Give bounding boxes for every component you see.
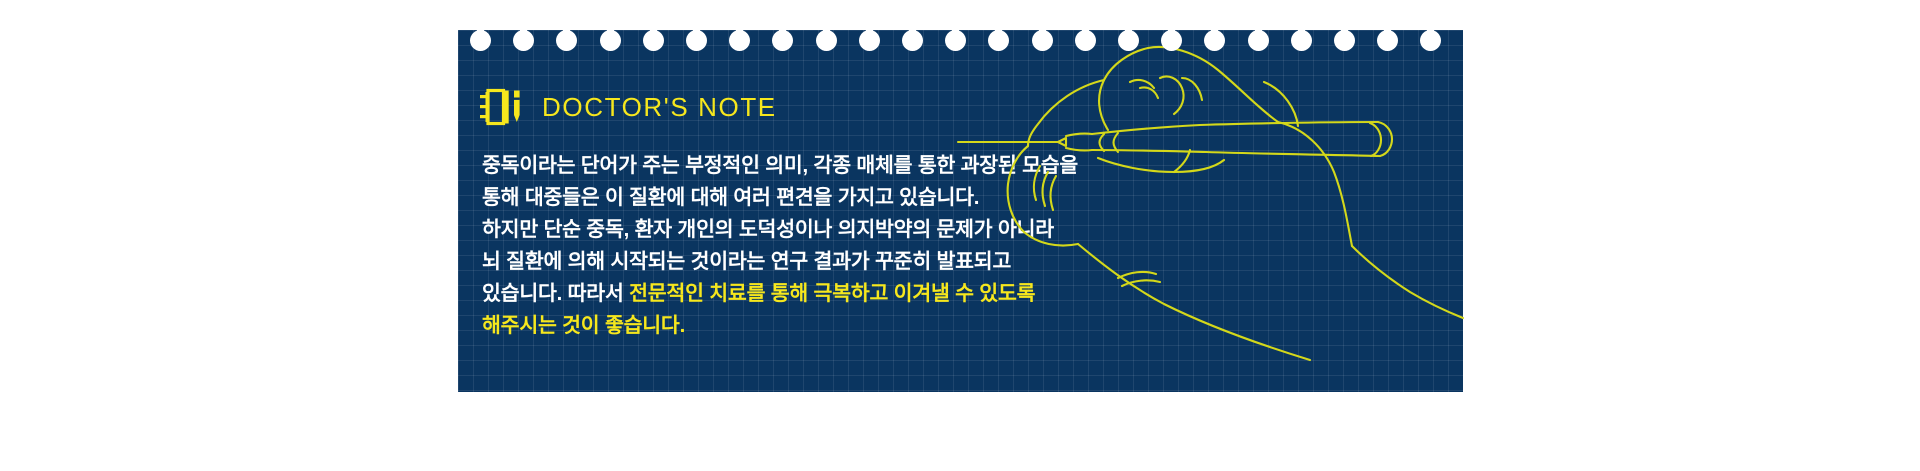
body-line-1: 중독이라는 단어가 주는 부정적인 의미, 각종 매체를 통한 과장된 모습을 bbox=[482, 150, 1242, 182]
doctors-note-panel: DOCTOR'S NOTE 중독이라는 단어가 주는 부정적인 의미, 각종 매… bbox=[458, 30, 1463, 392]
notebook-pencil-icon bbox=[480, 88, 522, 126]
body-line-5: 있습니다. 따라서 전문적인 치료를 통해 극복하고 이겨낼 수 있도록 bbox=[482, 278, 1242, 310]
body-line-6: 해주시는 것이 좋습니다. bbox=[482, 310, 1242, 342]
body-line-5-plain: 있습니다. 따라서 bbox=[482, 282, 629, 305]
body-line-3: 하지만 단순 중독, 환자 개인의 도덕성이나 의지박약의 문제가 아니라 bbox=[482, 214, 1242, 246]
body-line-2: 통해 대중들은 이 질환에 대해 여러 편견을 가지고 있습니다. bbox=[482, 182, 1242, 214]
body-line-4: 뇌 질환에 의해 시작되는 것이라는 연구 결과가 꾸준히 발표되고 bbox=[482, 246, 1242, 278]
body-line-5-highlight: 전문적인 치료를 통해 극복하고 이겨낼 수 있도록 bbox=[629, 282, 1035, 305]
note-body: 중독이라는 단어가 주는 부정적인 의미, 각종 매체를 통한 과장된 모습을 … bbox=[482, 150, 1242, 342]
screenshot-root: DOCTOR'S NOTE 중독이라는 단어가 주는 부정적인 의미, 각종 매… bbox=[0, 0, 1920, 471]
page-title: DOCTOR'S NOTE bbox=[542, 92, 777, 123]
note-header: DOCTOR'S NOTE bbox=[480, 88, 777, 126]
